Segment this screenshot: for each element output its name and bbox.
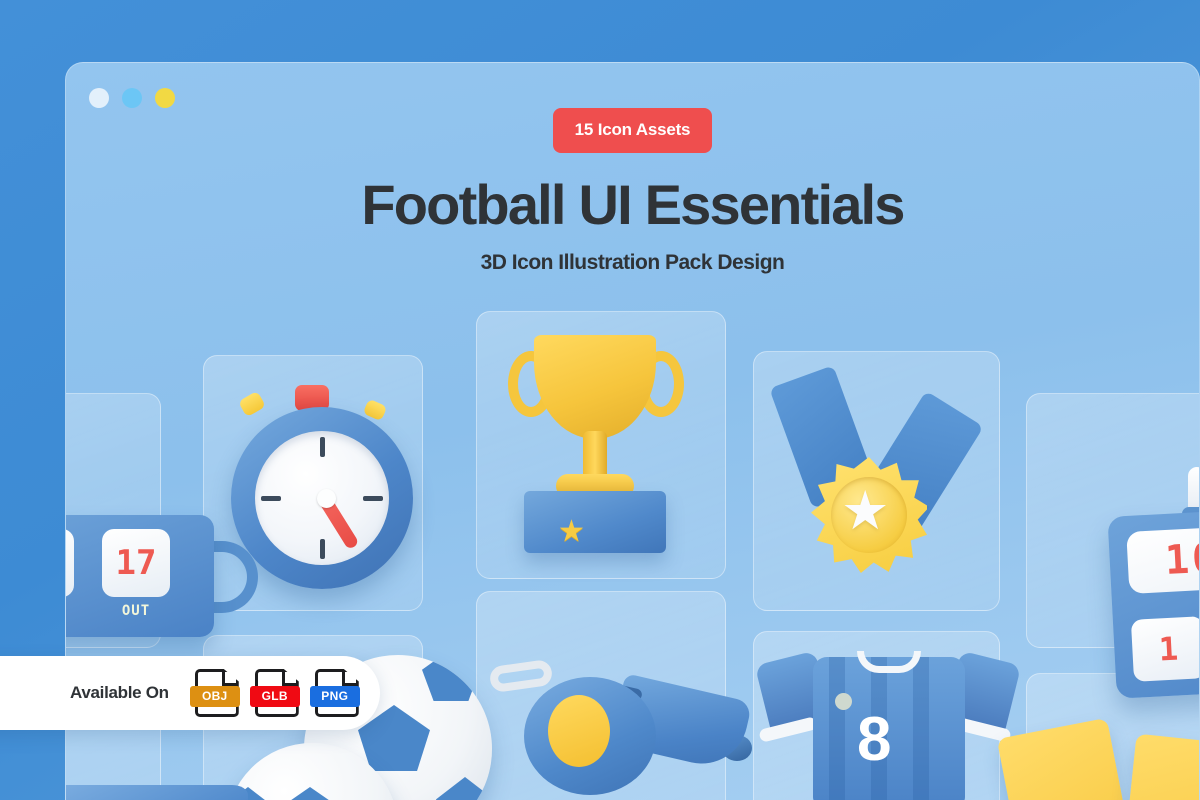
scoreboard-cell-1-value: 1 [1131, 616, 1200, 682]
obj-file-icon[interactable]: OBJ [195, 669, 239, 717]
jersey-number: 8 [857, 709, 889, 771]
scoreboard-frame: 10 : 15 1 25 26 [1107, 501, 1200, 698]
poster-canvas: 15 Icon Assets Football UI Essentials 3D… [0, 0, 1200, 800]
format-list: OBJ GLB PNG [195, 669, 359, 717]
available-on-label: Available On [70, 683, 169, 703]
jersey-badge-dot [835, 693, 852, 710]
glb-file-icon[interactable]: GLB [255, 669, 299, 717]
training-cone-body [65, 785, 248, 800]
glb-format-label: GLB [250, 686, 300, 707]
png-file-icon[interactable]: PNG [315, 669, 359, 717]
file-fold-corner [342, 672, 356, 686]
whistle-yellow-disc [548, 695, 610, 767]
jersey-icon: 8 [753, 631, 1033, 800]
whistle-ring [488, 659, 553, 693]
jersey-stripe [829, 657, 845, 800]
obj-format-label: OBJ [190, 686, 240, 707]
file-fold-corner [282, 672, 296, 686]
png-format-label: PNG [310, 686, 360, 707]
jersey-stripe [913, 657, 929, 800]
available-on-banner: Available On OBJ GLB PNG [0, 656, 380, 730]
whistle-icon [476, 591, 766, 800]
file-fold-corner [222, 672, 236, 686]
scoreboard-time-value: 10 : 15 [1126, 518, 1200, 594]
